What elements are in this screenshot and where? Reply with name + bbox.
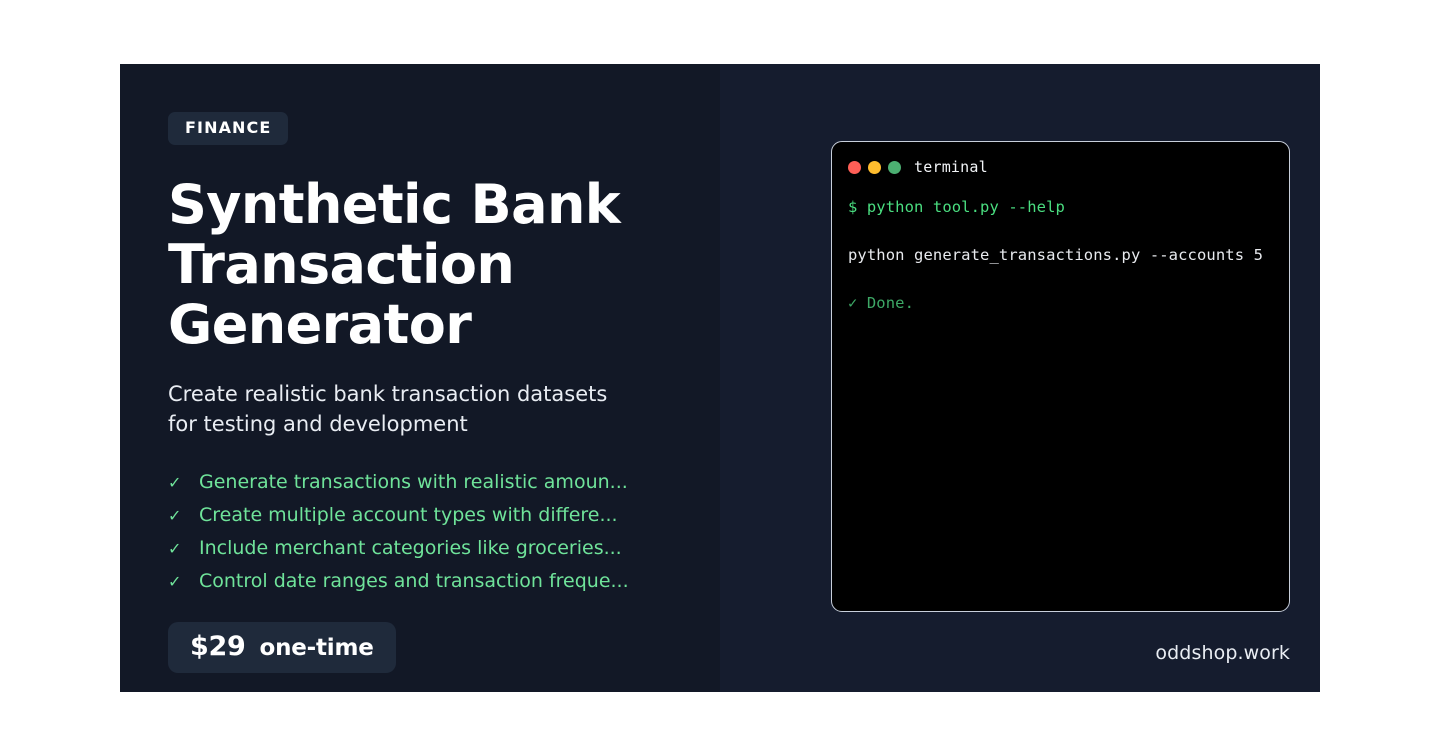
card-left-panel: FINANCE Synthetic Bank Transaction Gener… — [120, 64, 720, 692]
screenshot-canvas: FINANCE Synthetic Bank Transaction Gener… — [0, 0, 1440, 756]
check-icon: ✓ — [168, 533, 199, 565]
close-icon[interactable] — [848, 161, 861, 174]
list-item: ✓ Create multiple account types with dif… — [168, 499, 720, 532]
check-icon: ✓ — [168, 467, 199, 499]
check-icon: ✓ — [168, 566, 199, 598]
product-subtitle: Create realistic bank transaction datase… — [168, 379, 608, 439]
terminal-line-command: $ python tool.py --help — [848, 195, 1273, 219]
terminal-line-output: python generate_transactions.py --accoun… — [848, 243, 1273, 267]
product-promo-card: FINANCE Synthetic Bank Transaction Gener… — [120, 64, 1320, 692]
check-icon: ✓ — [168, 500, 199, 532]
list-item: ✓ Include merchant categories like groce… — [168, 532, 720, 565]
category-badge: FINANCE — [168, 112, 288, 145]
site-name: oddshop.work — [1155, 642, 1290, 664]
minimize-icon[interactable] — [868, 161, 881, 174]
terminal-titlebar: terminal — [848, 156, 1273, 178]
feature-label: Control date ranges and transaction freq… — [199, 565, 629, 597]
price-amount: $29 — [190, 631, 245, 662]
price-term: one-time — [259, 635, 373, 661]
terminal-window: terminal $ python tool.py --help python … — [831, 141, 1290, 612]
price-badge: $29 one-time — [168, 622, 396, 673]
card-right-panel: terminal $ python tool.py --help python … — [720, 64, 1320, 692]
maximize-icon[interactable] — [888, 161, 901, 174]
list-item: ✓ Generate transactions with realistic a… — [168, 466, 720, 499]
terminal-title: terminal — [914, 158, 988, 176]
terminal-output: $ python tool.py --help python generate_… — [848, 195, 1273, 315]
page-title: Synthetic Bank Transaction Generator — [168, 175, 668, 355]
list-item: ✓ Control date ranges and transaction fr… — [168, 565, 720, 598]
feature-label: Create multiple account types with diffe… — [199, 499, 618, 531]
feature-label: Generate transactions with realistic amo… — [199, 466, 628, 498]
terminal-line-status: ✓ Done. — [848, 291, 1273, 315]
feature-list: ✓ Generate transactions with realistic a… — [168, 466, 720, 598]
feature-label: Include merchant categories like groceri… — [199, 532, 622, 564]
